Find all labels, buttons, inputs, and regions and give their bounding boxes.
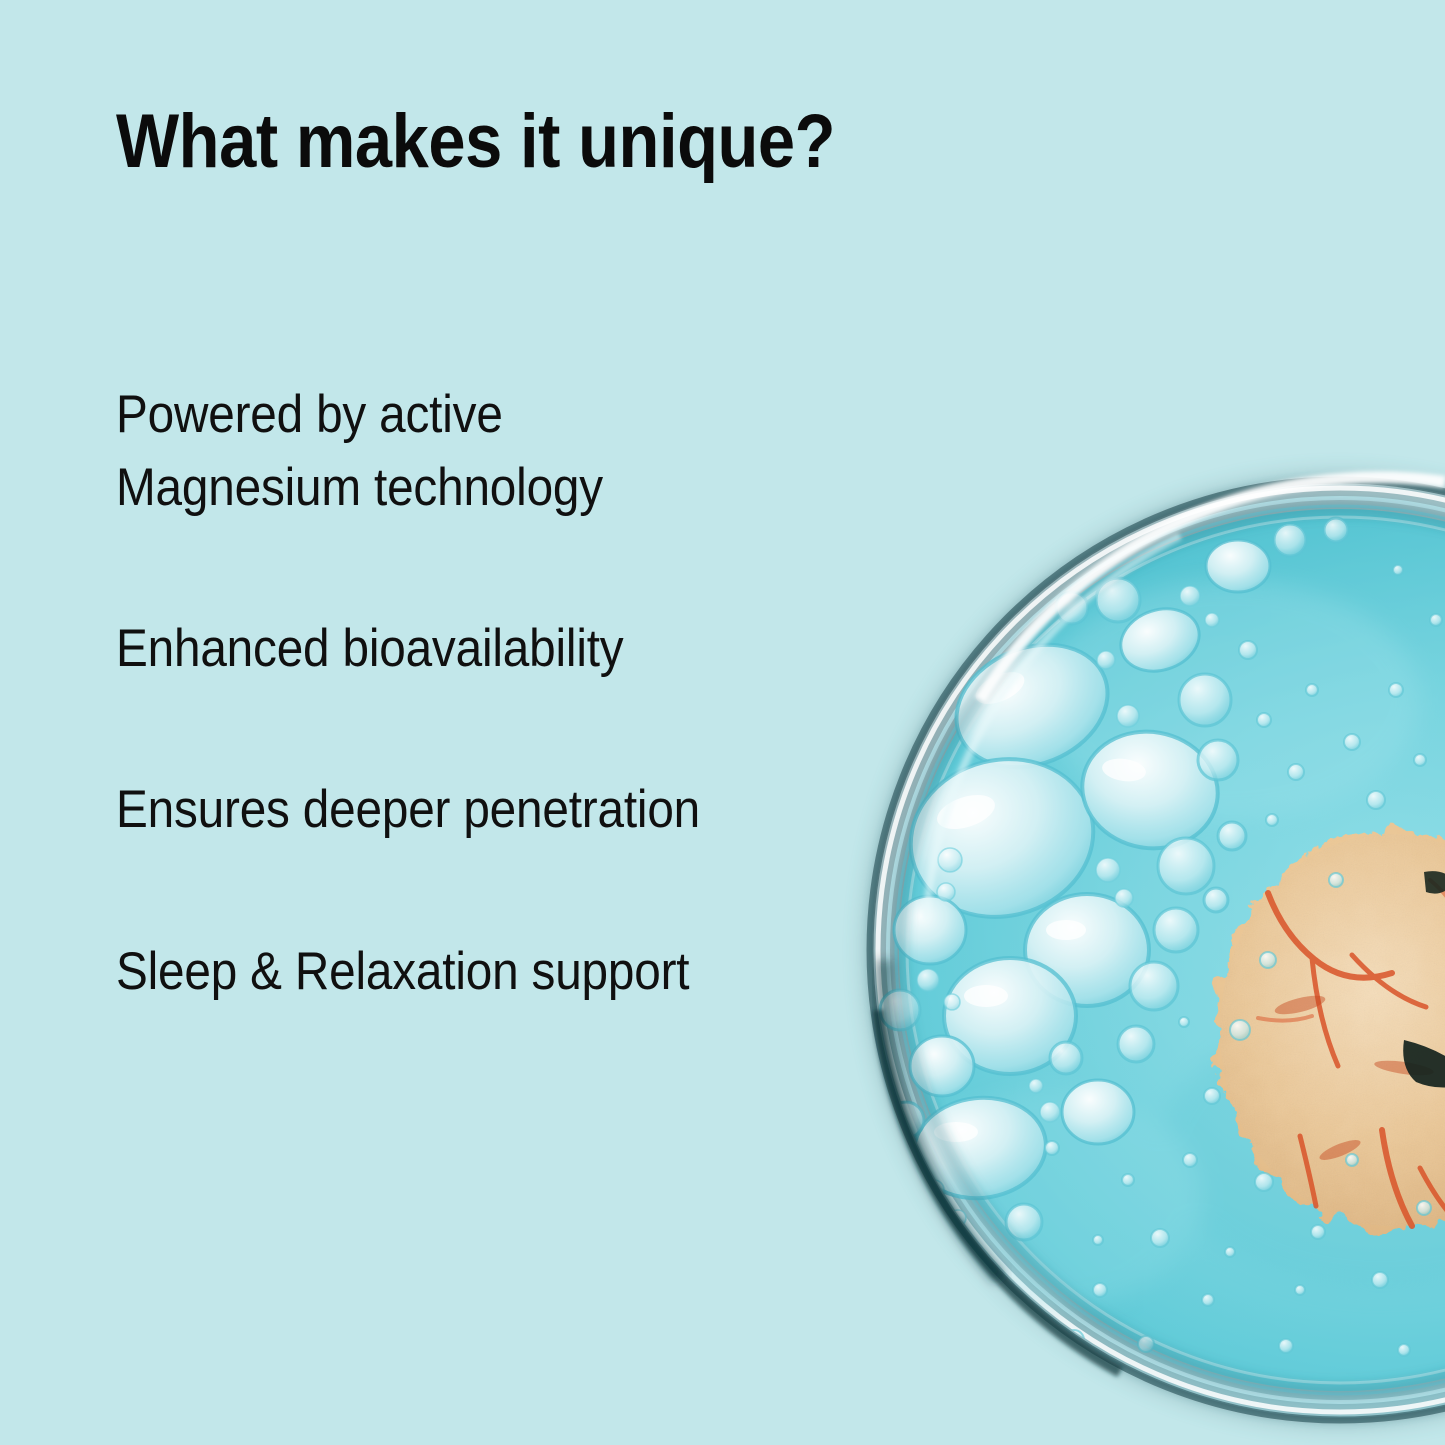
bullet-sleep: Sleep & Relaxation support — [116, 935, 800, 1008]
bullet-penetration-line-1: Ensures deeper penetration — [116, 773, 800, 846]
poster-canvas: What makes it unique? Powered by active … — [0, 0, 1445, 1445]
copy-column: What makes it unique? Powered by active … — [116, 0, 876, 1445]
bullet-bioavailability-line-1: Enhanced bioavailability — [116, 612, 800, 685]
bullet-magnesium-line-1: Powered by active — [116, 378, 800, 451]
saffron-blob — [1215, 830, 1445, 1230]
bullet-penetration: Ensures deeper penetration — [116, 773, 800, 846]
foam-bubbles — [880, 518, 1442, 1396]
bullet-bioavailability: Enhanced bioavailability — [116, 612, 800, 685]
bullet-magnesium-line-2: Magnesium technology — [116, 451, 800, 524]
bullet-magnesium: Powered by active Magnesium technology — [116, 378, 800, 524]
page-title: What makes it unique? — [116, 104, 835, 180]
bullet-sleep-line-1: Sleep & Relaxation support — [116, 935, 800, 1008]
benefit-list: Powered by active Magnesium technology E… — [116, 378, 876, 1008]
